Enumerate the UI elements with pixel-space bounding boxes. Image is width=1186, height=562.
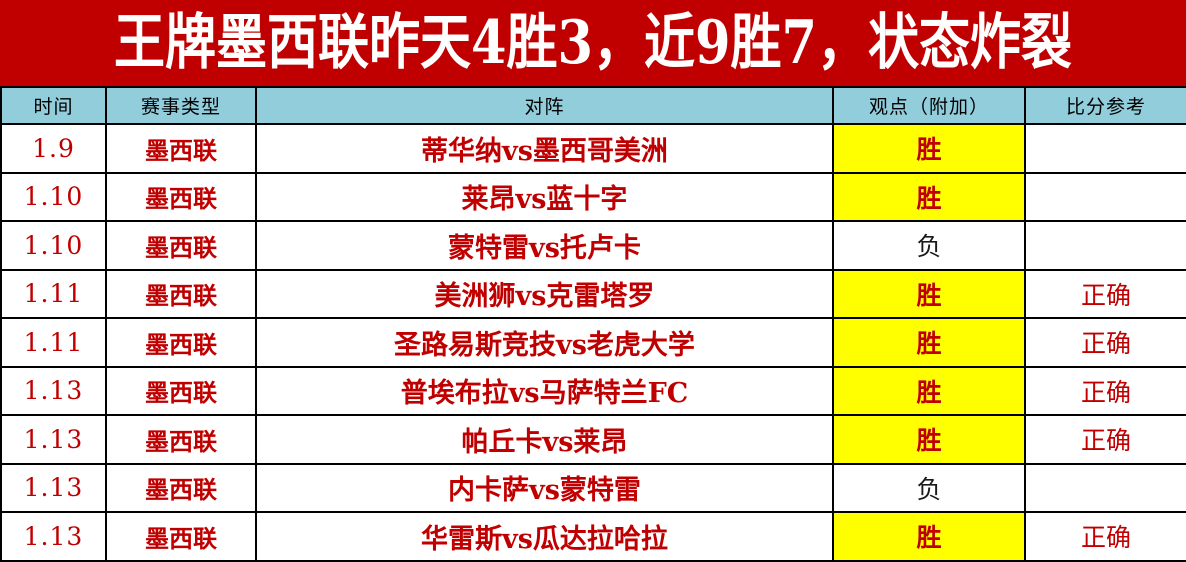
- cell-match: 华雷斯vs瓜达拉哈拉: [256, 512, 833, 561]
- table-body: 1.9墨西联蒂华纳vs墨西哥美洲胜1.10墨西联莱昂vs蓝十字胜1.10墨西联蒙…: [1, 124, 1186, 561]
- table-row: 1.11墨西联圣路易斯竞技vs老虎大学胜正确: [1, 318, 1186, 367]
- page-root: 王牌墨西联昨天4胜3，近9胜7，状态炸裂 时间 赛事类型 对阵 观点（附加） 比…: [0, 0, 1186, 562]
- cell-league: 墨西联: [106, 124, 256, 173]
- cell-match: 帕丘卡vs莱昂: [256, 415, 833, 464]
- cell-league: 墨西联: [106, 173, 256, 222]
- cell-match: 内卡萨vs蒙特雷: [256, 464, 833, 513]
- cell-result: 正确: [1025, 415, 1186, 464]
- cell-prediction: 胜: [833, 173, 1025, 222]
- cell-time: 1.10: [1, 173, 106, 222]
- cell-league: 墨西联: [106, 464, 256, 513]
- cell-match: 蒂华纳vs墨西哥美洲: [256, 124, 833, 173]
- cell-result: 正确: [1025, 270, 1186, 319]
- column-header-type: 赛事类型: [106, 87, 256, 124]
- cell-result: 正确: [1025, 318, 1186, 367]
- cell-prediction: 胜: [833, 512, 1025, 561]
- cell-prediction: 胜: [833, 367, 1025, 416]
- table-row: 1.13墨西联内卡萨vs蒙特雷负: [1, 464, 1186, 513]
- cell-league: 墨西联: [106, 512, 256, 561]
- cell-prediction: 胜: [833, 124, 1025, 173]
- cell-result: [1025, 124, 1186, 173]
- cell-result: 正确: [1025, 512, 1186, 561]
- cell-time: 1.13: [1, 367, 106, 416]
- table-row: 1.13墨西联华雷斯vs瓜达拉哈拉胜正确: [1, 512, 1186, 561]
- cell-prediction: 负: [833, 464, 1025, 513]
- column-header-score: 比分参考: [1025, 87, 1186, 124]
- table-row: 1.9墨西联蒂华纳vs墨西哥美洲胜: [1, 124, 1186, 173]
- cell-league: 墨西联: [106, 367, 256, 416]
- cell-prediction: 胜: [833, 318, 1025, 367]
- title-banner: 王牌墨西联昨天4胜3，近9胜7，状态炸裂: [0, 0, 1186, 86]
- cell-league: 墨西联: [106, 270, 256, 319]
- table-row: 1.13墨西联帕丘卡vs莱昂胜正确: [1, 415, 1186, 464]
- cell-match: 普埃布拉vs马萨特兰FC: [256, 367, 833, 416]
- cell-prediction: 负: [833, 221, 1025, 270]
- column-header-time: 时间: [1, 87, 106, 124]
- cell-time: 1.13: [1, 415, 106, 464]
- cell-league: 墨西联: [106, 318, 256, 367]
- cell-time: 1.11: [1, 318, 106, 367]
- cell-time: 1.13: [1, 512, 106, 561]
- cell-time: 1.10: [1, 221, 106, 270]
- cell-time: 1.9: [1, 124, 106, 173]
- cell-result: [1025, 221, 1186, 270]
- table-row: 1.11墨西联美洲狮vs克雷塔罗胜正确: [1, 270, 1186, 319]
- cell-league: 墨西联: [106, 415, 256, 464]
- cell-time: 1.11: [1, 270, 106, 319]
- cell-prediction: 胜: [833, 415, 1025, 464]
- cell-result: [1025, 173, 1186, 222]
- cell-time: 1.13: [1, 464, 106, 513]
- predictions-table: 时间 赛事类型 对阵 观点（附加） 比分参考 1.9墨西联蒂华纳vs墨西哥美洲胜…: [0, 86, 1186, 562]
- table-header: 时间 赛事类型 对阵 观点（附加） 比分参考: [1, 87, 1186, 124]
- cell-match: 圣路易斯竞技vs老虎大学: [256, 318, 833, 367]
- column-header-view: 观点（附加）: [833, 87, 1025, 124]
- cell-prediction: 胜: [833, 270, 1025, 319]
- column-header-match: 对阵: [256, 87, 833, 124]
- header-row: 时间 赛事类型 对阵 观点（附加） 比分参考: [1, 87, 1186, 124]
- cell-match: 美洲狮vs克雷塔罗: [256, 270, 833, 319]
- cell-result: [1025, 464, 1186, 513]
- cell-result: 正确: [1025, 367, 1186, 416]
- table-row: 1.13墨西联普埃布拉vs马萨特兰FC胜正确: [1, 367, 1186, 416]
- table-row: 1.10墨西联蒙特雷vs托卢卡负: [1, 221, 1186, 270]
- cell-match: 莱昂vs蓝十字: [256, 173, 833, 222]
- table-row: 1.10墨西联莱昂vs蓝十字胜: [1, 173, 1186, 222]
- cell-league: 墨西联: [106, 221, 256, 270]
- cell-match: 蒙特雷vs托卢卡: [256, 221, 833, 270]
- page-title: 王牌墨西联昨天4胜3，近9胜7，状态炸裂: [114, 13, 1072, 73]
